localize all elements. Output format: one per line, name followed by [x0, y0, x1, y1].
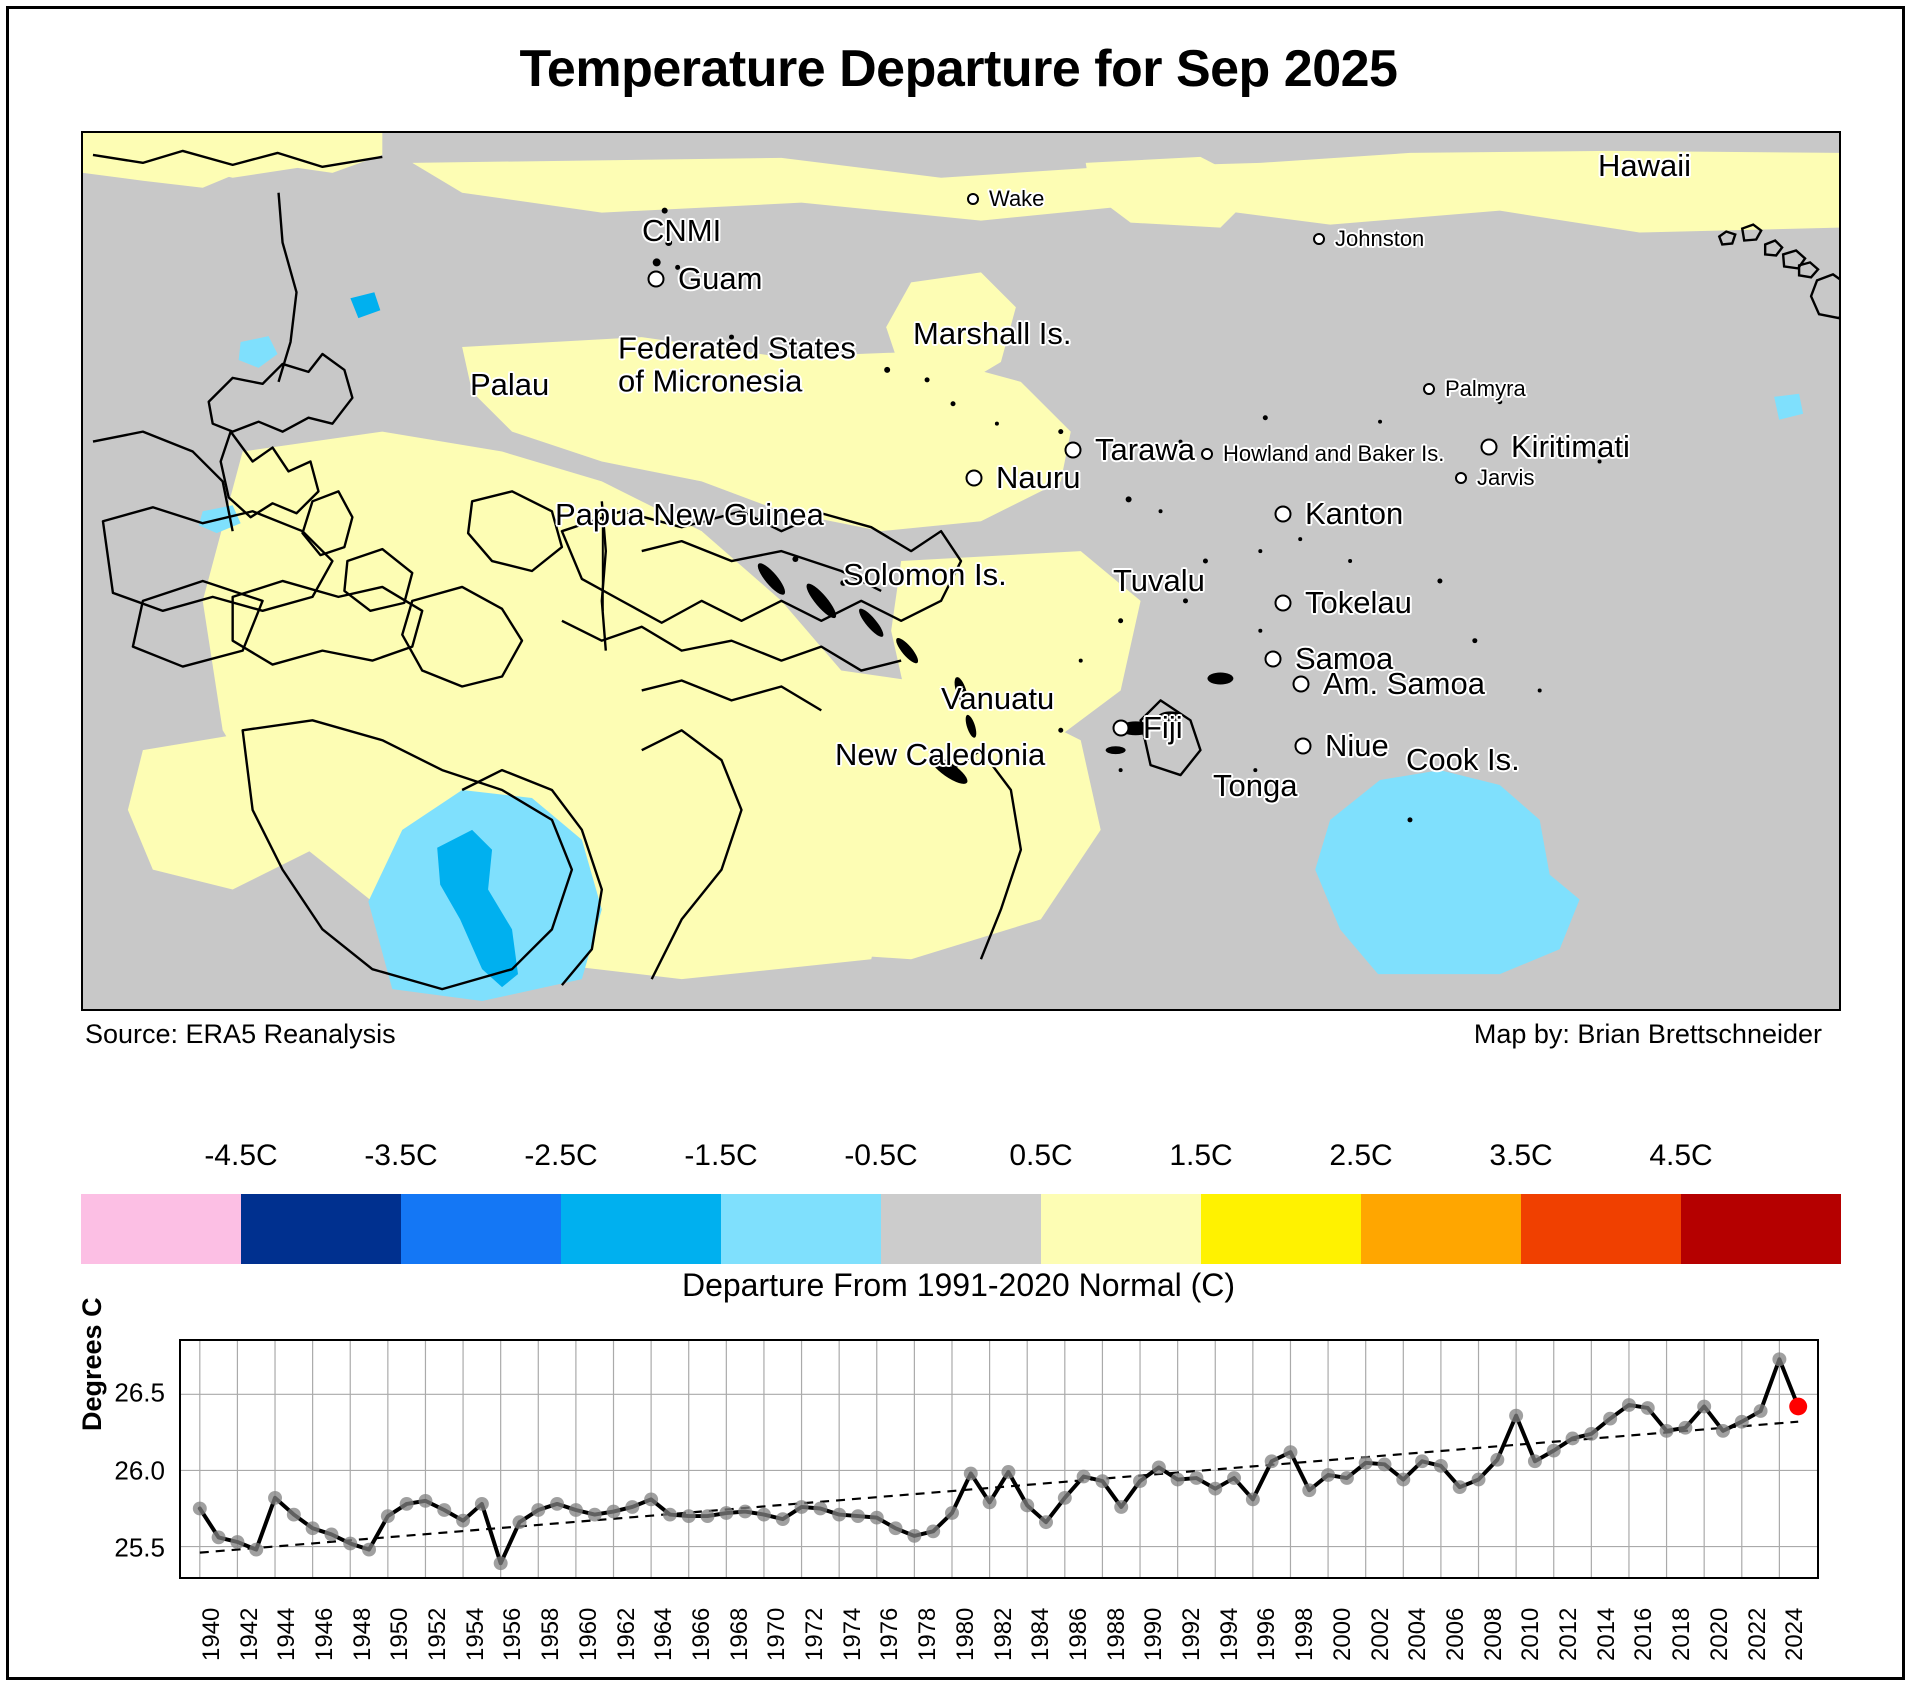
data-point[interactable]	[1246, 1492, 1260, 1506]
x-tick-1994: 1994	[1216, 1608, 1244, 1661]
data-point[interactable]	[475, 1497, 489, 1511]
data-point[interactable]	[757, 1508, 771, 1522]
colorbar-tick-labels: -4.5C-3.5C-2.5C-1.5C-0.5C0.5C1.5C2.5C3.5…	[81, 1139, 1841, 1181]
data-point[interactable]	[907, 1529, 921, 1543]
data-point[interactable]	[1396, 1473, 1410, 1487]
data-point[interactable]	[1189, 1471, 1203, 1485]
x-axis-ticks: 1940194219441946194819501952195419561958…	[179, 1583, 1819, 1667]
map-marker-tarawa[interactable]	[1065, 442, 1082, 459]
colorbar-tick--2-5C: -2.5C	[524, 1139, 597, 1173]
map-marker-kanton[interactable]	[1275, 506, 1292, 523]
x-tick-1972: 1972	[801, 1608, 829, 1661]
x-tick-1984: 1984	[1027, 1608, 1055, 1661]
data-point[interactable]	[249, 1543, 263, 1557]
temperature-departure-map[interactable]: HawaiiWakeJohnstonCNMIGuamMarshall Is.Pa…	[81, 131, 1841, 1011]
map-marker-palmyra[interactable]	[1423, 383, 1435, 395]
x-tick-1962: 1962	[613, 1608, 641, 1661]
data-point[interactable]	[1660, 1424, 1674, 1438]
map-marker-tokelau[interactable]	[1275, 595, 1292, 612]
colorbar-bin-3[interactable]	[561, 1194, 721, 1264]
x-tick-2012: 2012	[1555, 1608, 1583, 1661]
data-point[interactable]	[400, 1497, 414, 1511]
colorbar-tick-4-5C: 4.5C	[1649, 1139, 1712, 1173]
x-tick-2002: 2002	[1367, 1608, 1395, 1661]
data-point[interactable]	[983, 1496, 997, 1510]
data-point[interactable]	[418, 1494, 432, 1508]
data-point-highlight[interactable]	[1789, 1398, 1807, 1416]
x-tick-1970: 1970	[763, 1608, 791, 1661]
data-point[interactable]	[1716, 1424, 1730, 1438]
data-point[interactable]	[531, 1503, 545, 1517]
x-tick-2014: 2014	[1593, 1608, 1621, 1661]
data-point[interactable]	[719, 1506, 733, 1520]
x-tick-1946: 1946	[311, 1608, 339, 1661]
map-marker-samoa[interactable]	[1265, 651, 1282, 668]
data-point[interactable]	[306, 1521, 320, 1535]
timeseries-plot-area[interactable]	[179, 1339, 1819, 1579]
y-tick-26: 26.0	[114, 1455, 165, 1486]
data-point[interactable]	[1114, 1500, 1128, 1514]
data-point[interactable]	[268, 1491, 282, 1505]
data-point[interactable]	[682, 1509, 696, 1523]
data-point[interactable]	[1001, 1465, 1015, 1479]
y-tick-26.5: 26.5	[114, 1378, 165, 1409]
data-point[interactable]	[569, 1503, 583, 1517]
x-tick-2006: 2006	[1442, 1608, 1470, 1661]
data-point[interactable]	[1509, 1409, 1523, 1423]
data-point[interactable]	[1697, 1400, 1711, 1414]
x-tick-1996: 1996	[1253, 1608, 1281, 1661]
data-point[interactable]	[324, 1527, 338, 1541]
data-point[interactable]	[813, 1502, 827, 1516]
x-tick-1968: 1968	[726, 1608, 754, 1661]
x-tick-2008: 2008	[1480, 1608, 1508, 1661]
data-point[interactable]	[1584, 1427, 1598, 1441]
data-point[interactable]	[1077, 1470, 1091, 1484]
timeseries-chart[interactable]: Degrees C 25.526.026.5 19401942194419461…	[81, 1339, 1841, 1669]
data-point[interactable]	[851, 1509, 865, 1523]
x-tick-1990: 1990	[1140, 1608, 1168, 1661]
x-tick-1976: 1976	[876, 1608, 904, 1661]
data-point[interactable]	[1039, 1515, 1053, 1529]
map-marker-am-samoa[interactable]	[1293, 676, 1310, 693]
x-tick-1992: 1992	[1178, 1608, 1206, 1661]
map-marker-wake[interactable]	[967, 193, 979, 205]
map-marker-niue[interactable]	[1295, 738, 1312, 755]
data-point[interactable]	[945, 1506, 959, 1520]
data-point[interactable]	[795, 1500, 809, 1514]
data-point[interactable]	[588, 1508, 602, 1522]
data-point[interactable]	[362, 1543, 376, 1557]
data-point[interactable]	[644, 1492, 658, 1506]
data-point[interactable]	[1302, 1483, 1316, 1497]
x-tick-1948: 1948	[349, 1608, 377, 1661]
colorbar-tick--4-5C: -4.5C	[204, 1139, 277, 1173]
data-point[interactable]	[870, 1511, 884, 1525]
x-tick-1966: 1966	[688, 1608, 716, 1661]
x-tick-1942: 1942	[236, 1608, 264, 1661]
map-raster	[83, 133, 1839, 1009]
data-point[interactable]	[964, 1467, 978, 1481]
data-point[interactable]	[1528, 1454, 1542, 1468]
data-point[interactable]	[1415, 1454, 1429, 1468]
colorbar-bin-6[interactable]	[1041, 1194, 1201, 1264]
data-point[interactable]	[1227, 1471, 1241, 1485]
data-point[interactable]	[1490, 1453, 1504, 1467]
colorbar-bin-0[interactable]	[81, 1194, 241, 1264]
colorbar-bin-4[interactable]	[721, 1194, 881, 1264]
x-tick-1956: 1956	[499, 1608, 527, 1661]
timeseries-svg	[181, 1341, 1817, 1577]
data-point[interactable]	[1020, 1499, 1034, 1513]
colorbar-bin-5[interactable]	[881, 1194, 1041, 1264]
data-point[interactable]	[1208, 1482, 1222, 1496]
x-tick-1974: 1974	[839, 1608, 867, 1661]
colorbar-tick--3-5C: -3.5C	[364, 1139, 437, 1173]
data-point[interactable]	[1772, 1352, 1786, 1366]
colorbar-tick--1-5C: -1.5C	[684, 1139, 757, 1173]
x-tick-2004: 2004	[1404, 1608, 1432, 1661]
colorbar-tick-3-5C: 3.5C	[1489, 1139, 1552, 1173]
data-point[interactable]	[1265, 1454, 1279, 1468]
data-point[interactable]	[832, 1508, 846, 1522]
data-point[interactable]	[1133, 1474, 1147, 1488]
x-tick-2018: 2018	[1668, 1608, 1696, 1661]
data-point[interactable]	[456, 1514, 470, 1528]
data-point[interactable]	[1434, 1459, 1448, 1473]
colorbar-tick-1-5C: 1.5C	[1169, 1139, 1232, 1173]
data-point[interactable]	[287, 1508, 301, 1522]
figure-frame: Temperature Departure for Sep 2025	[6, 6, 1905, 1680]
data-point[interactable]	[1359, 1456, 1373, 1470]
map-marker-johnston[interactable]	[1313, 233, 1325, 245]
x-tick-1940: 1940	[198, 1608, 226, 1661]
data-point[interactable]	[437, 1503, 451, 1517]
map-marker-nauru[interactable]	[966, 470, 983, 487]
x-tick-1982: 1982	[990, 1608, 1018, 1661]
source-text: Source: ERA5 Reanalysis	[85, 1019, 396, 1050]
data-point[interactable]	[1152, 1460, 1166, 1474]
x-tick-1954: 1954	[462, 1608, 490, 1661]
data-point[interactable]	[1058, 1491, 1072, 1505]
data-point[interactable]	[607, 1505, 621, 1519]
x-tick-1944: 1944	[273, 1608, 301, 1661]
colorbar[interactable]	[81, 1194, 1841, 1264]
data-point[interactable]	[1340, 1471, 1354, 1485]
data-point[interactable]	[1622, 1398, 1636, 1412]
data-point[interactable]	[212, 1531, 226, 1545]
y-axis-ticks: 25.526.026.5	[81, 1339, 179, 1579]
map-credit-text: Map by: Brian Brettschneider	[1474, 1019, 1822, 1050]
colorbar-tick-2-5C: 2.5C	[1329, 1139, 1392, 1173]
x-tick-2020: 2020	[1706, 1608, 1734, 1661]
data-point[interactable]	[776, 1512, 790, 1526]
x-tick-1980: 1980	[952, 1608, 980, 1661]
colorbar-tick--0-5C: -0.5C	[844, 1139, 917, 1173]
data-point[interactable]	[1603, 1412, 1617, 1426]
colorbar-bin-8[interactable]	[1361, 1194, 1521, 1264]
data-point[interactable]	[343, 1537, 357, 1551]
map-marker-kiritimati[interactable]	[1481, 439, 1498, 456]
data-point[interactable]	[1321, 1468, 1335, 1482]
data-point[interactable]	[230, 1535, 244, 1549]
x-tick-1978: 1978	[914, 1608, 942, 1661]
colorbar-bin-10[interactable]	[1681, 1194, 1841, 1264]
data-point[interactable]	[1547, 1444, 1561, 1458]
x-tick-2000: 2000	[1329, 1608, 1357, 1661]
data-point[interactable]	[193, 1502, 207, 1516]
x-tick-1958: 1958	[537, 1608, 565, 1661]
data-point[interactable]	[1472, 1473, 1486, 1487]
data-point[interactable]	[1171, 1473, 1185, 1487]
data-point[interactable]	[1095, 1474, 1109, 1488]
data-point[interactable]	[738, 1505, 752, 1519]
x-tick-1986: 1986	[1065, 1608, 1093, 1661]
colorbar-tick-0-5C: 0.5C	[1009, 1139, 1072, 1173]
data-point[interactable]	[1641, 1401, 1655, 1415]
data-point[interactable]	[494, 1556, 508, 1570]
data-point[interactable]	[889, 1521, 903, 1535]
x-tick-2010: 2010	[1517, 1608, 1545, 1661]
data-point[interactable]	[1378, 1457, 1392, 1471]
colorbar-bin-2[interactable]	[401, 1194, 561, 1264]
x-tick-1952: 1952	[424, 1608, 452, 1661]
colorbar-bin-9[interactable]	[1521, 1194, 1681, 1264]
x-tick-1964: 1964	[650, 1608, 678, 1661]
map-marker-fiji[interactable]	[1113, 720, 1130, 737]
map-marker-howland-and-baker-is[interactable]	[1201, 448, 1213, 460]
data-point[interactable]	[663, 1508, 677, 1522]
data-point[interactable]	[1566, 1432, 1580, 1446]
page-title: Temperature Departure for Sep 2025	[9, 39, 1908, 99]
data-point[interactable]	[381, 1509, 395, 1523]
colorbar-title: Departure From 1991-2020 Normal (C)	[9, 1267, 1908, 1304]
y-tick-25.5: 25.5	[114, 1533, 165, 1564]
colorbar-bin-7[interactable]	[1201, 1194, 1361, 1264]
data-point[interactable]	[1735, 1415, 1749, 1429]
x-tick-1950: 1950	[386, 1608, 414, 1661]
data-point[interactable]	[1283, 1445, 1297, 1459]
x-tick-1960: 1960	[575, 1608, 603, 1661]
data-point[interactable]	[512, 1515, 526, 1529]
x-tick-2022: 2022	[1744, 1608, 1772, 1661]
data-point[interactable]	[701, 1509, 715, 1523]
map-marker-guam[interactable]	[648, 271, 665, 288]
data-point[interactable]	[550, 1497, 564, 1511]
x-tick-1988: 1988	[1103, 1608, 1131, 1661]
x-tick-2024: 2024	[1781, 1608, 1809, 1661]
colorbar-bin-1[interactable]	[241, 1194, 401, 1264]
data-point[interactable]	[1453, 1480, 1467, 1494]
data-point[interactable]	[625, 1500, 639, 1514]
map-marker-jarvis[interactable]	[1455, 472, 1467, 484]
x-tick-2016: 2016	[1630, 1608, 1658, 1661]
data-point[interactable]	[1754, 1404, 1768, 1418]
x-tick-1998: 1998	[1291, 1608, 1319, 1661]
data-point[interactable]	[1678, 1421, 1692, 1435]
data-point[interactable]	[926, 1524, 940, 1538]
